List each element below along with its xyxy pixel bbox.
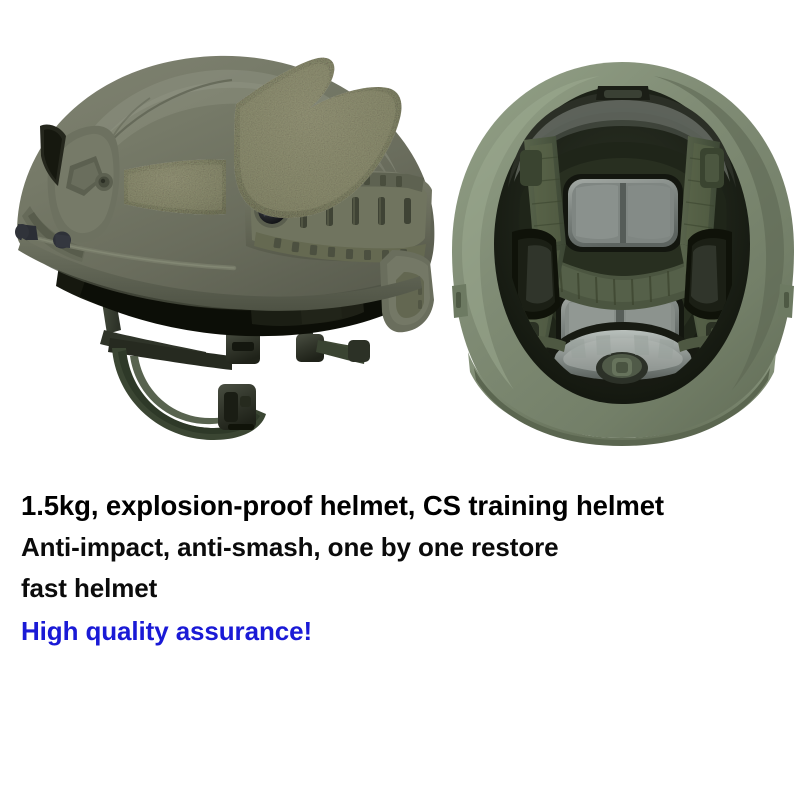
caption-line-quality-assurance: High quality assurance! [21,611,800,652]
helmet-photo-canvas [0,0,800,480]
caption-line-headline: 1.5kg, explosion-proof helmet, CS traini… [21,486,800,526]
caption-block: 1.5kg, explosion-proof helmet, CS traini… [0,486,800,652]
caption-line-product-type: fast helmet [21,568,800,609]
product-photo [0,0,800,480]
helmet-exterior [15,56,437,440]
quick-release-buckle [218,384,256,430]
caption-line-features: Anti-impact, anti-smash, one by one rest… [21,527,800,568]
product-listing-page: 1.5kg, explosion-proof helmet, CS traini… [0,0,800,800]
helmet-interior [452,62,794,446]
